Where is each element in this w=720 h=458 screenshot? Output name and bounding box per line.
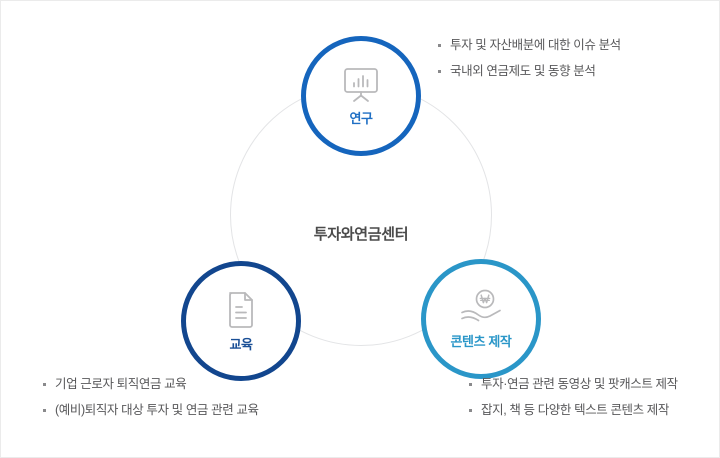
infographic-diagram: 투자와연금센터 연구 투자 및 자산배분에 대한 이슈 분석 국내외 연금제도 … xyxy=(0,0,720,458)
node-education[interactable]: 교육 xyxy=(181,261,301,381)
bullet-marker-icon xyxy=(438,70,441,73)
bullet-group-content: 투자·연금 관련 동영상 및 팟캐스트 제작 잡지, 책 등 다양한 텍스트 콘… xyxy=(469,376,678,418)
bullet-marker-icon xyxy=(438,44,441,47)
bullet-text: 투자·연금 관련 동영상 및 팟캐스트 제작 xyxy=(481,376,678,392)
bullet-item: 투자·연금 관련 동영상 및 팟캐스트 제작 xyxy=(469,376,678,392)
bullet-item: (예비)퇴직자 대상 투자 및 연금 관련 교육 xyxy=(43,402,259,418)
bullet-group-research: 투자 및 자산배분에 대한 이슈 분석 국내외 연금제도 및 동향 분석 xyxy=(438,37,621,79)
bullet-marker-icon xyxy=(43,383,46,386)
node-content[interactable]: 콘텐츠 제작 xyxy=(421,259,541,379)
bullet-marker-icon xyxy=(469,409,472,412)
hand-holding-won-icon xyxy=(459,289,503,327)
bullet-group-education: 기업 근로자 퇴직연금 교육 (예비)퇴직자 대상 투자 및 연금 관련 교육 xyxy=(43,376,259,418)
bullet-item: 투자 및 자산배분에 대한 이슈 분석 xyxy=(438,37,621,53)
presentation-chart-icon xyxy=(341,66,381,104)
node-research[interactable]: 연구 xyxy=(301,36,421,156)
center-label: 투자와연금센터 xyxy=(1,223,720,244)
bullet-text: 국내외 연금제도 및 동향 분석 xyxy=(450,63,596,79)
bullet-text: 기업 근로자 퇴직연금 교육 xyxy=(55,376,186,392)
bullet-text: (예비)퇴직자 대상 투자 및 연금 관련 교육 xyxy=(55,402,259,418)
bullet-marker-icon xyxy=(469,383,472,386)
bullet-text: 잡지, 책 등 다양한 텍스트 콘텐츠 제작 xyxy=(481,402,669,418)
node-education-label: 교육 xyxy=(229,334,252,353)
node-research-label: 연구 xyxy=(349,108,372,127)
document-icon xyxy=(224,290,258,330)
node-content-label: 콘텐츠 제작 xyxy=(450,331,511,350)
bullet-item: 기업 근로자 퇴직연금 교육 xyxy=(43,376,259,392)
bullet-marker-icon xyxy=(43,409,46,412)
bullet-item: 국내외 연금제도 및 동향 분석 xyxy=(438,63,621,79)
bullet-text: 투자 및 자산배분에 대한 이슈 분석 xyxy=(450,37,621,53)
bullet-item: 잡지, 책 등 다양한 텍스트 콘텐츠 제작 xyxy=(469,402,678,418)
